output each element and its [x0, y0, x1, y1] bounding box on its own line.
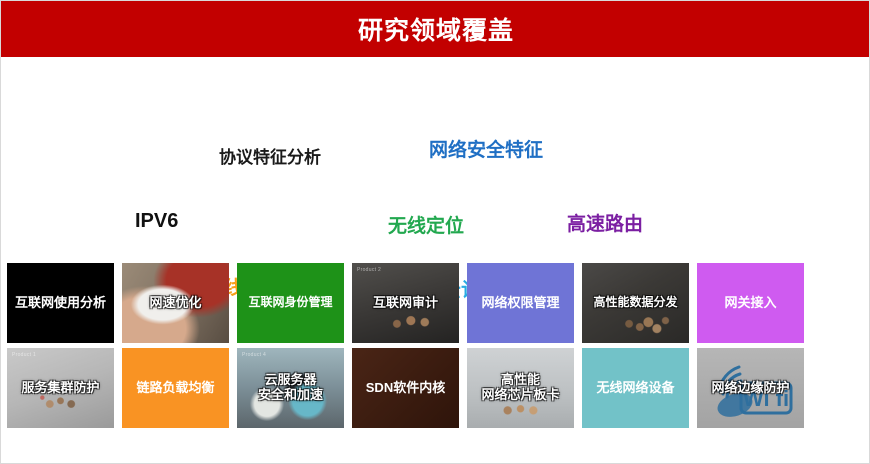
product-tile[interactable]: 无线网络设备: [582, 348, 689, 428]
tile-caption: 互联网审计: [370, 296, 441, 311]
tile-caption: SDN软件内核: [363, 381, 448, 396]
tile-caption: 无线网络设备: [593, 381, 677, 396]
product-tile[interactable]: Wi fi网络边缘防护: [697, 348, 804, 428]
keyword-cloud: 协议特征分析网络安全特征IPV6无线定位高速路由无线城市架构云计算技术: [1, 57, 870, 257]
tile-row-2: Product 1服务集群防护链路负载均衡Product 4云服务器安全和加速S…: [7, 348, 865, 428]
product-tile[interactable]: 互联网使用分析: [7, 263, 114, 343]
tile-caption: 链路负载均衡: [133, 381, 217, 396]
tile-row-1: 互联网使用分析网速优化互联网身份管理Product 2互联网审计网络权限管理高性…: [7, 263, 865, 343]
product-tile[interactable]: Product 1服务集群防护: [7, 348, 114, 428]
keyword-4: 无线定位: [388, 217, 464, 236]
product-tile[interactable]: 网关接入: [697, 263, 804, 343]
product-tile[interactable]: Product 2互联网审计: [352, 263, 459, 343]
page-title: 研究领域覆盖: [1, 1, 870, 57]
product-tile[interactable]: 高性能网络芯片板卡: [467, 348, 574, 428]
tile-caption: 互联网使用分析: [12, 296, 109, 311]
product-tile[interactable]: 网络权限管理: [467, 263, 574, 343]
title-banner: 研究领域覆盖: [1, 1, 870, 57]
product-tile[interactable]: 链路负载均衡: [122, 348, 229, 428]
tile-caption: 网络权限管理: [478, 296, 562, 311]
product-tile-grid: 互联网使用分析网速优化互联网身份管理Product 2互联网审计网络权限管理高性…: [7, 263, 865, 433]
slide-canvas: 研究领域覆盖 协议特征分析网络安全特征IPV6无线定位高速路由无线城市架构云计算…: [0, 0, 870, 464]
product-tile[interactable]: 网速优化: [122, 263, 229, 343]
tile-caption: 高性能数据分发: [590, 296, 680, 309]
product-tile[interactable]: 互联网身份管理: [237, 263, 344, 343]
keyword-2: 网络安全特征: [429, 141, 543, 160]
tile-caption: 服务集群防护: [18, 381, 102, 396]
tile-caption: 互联网身份管理: [245, 296, 335, 309]
keyword-3: IPV6: [135, 211, 178, 231]
tile-caption: 云服务器安全和加速: [255, 373, 326, 402]
product-tile[interactable]: Product 4云服务器安全和加速: [237, 348, 344, 428]
tile-caption: 高性能网络芯片板卡: [478, 373, 562, 402]
tile-caption: 网络边缘防护: [708, 381, 792, 396]
tile-caption: 网关接入: [721, 296, 779, 311]
product-tile[interactable]: SDN软件内核: [352, 348, 459, 428]
product-tile[interactable]: 高性能数据分发: [582, 263, 689, 343]
tile-caption: 网速优化: [146, 296, 204, 311]
keyword-5: 高速路由: [567, 215, 643, 234]
keyword-1: 协议特征分析: [219, 149, 321, 166]
